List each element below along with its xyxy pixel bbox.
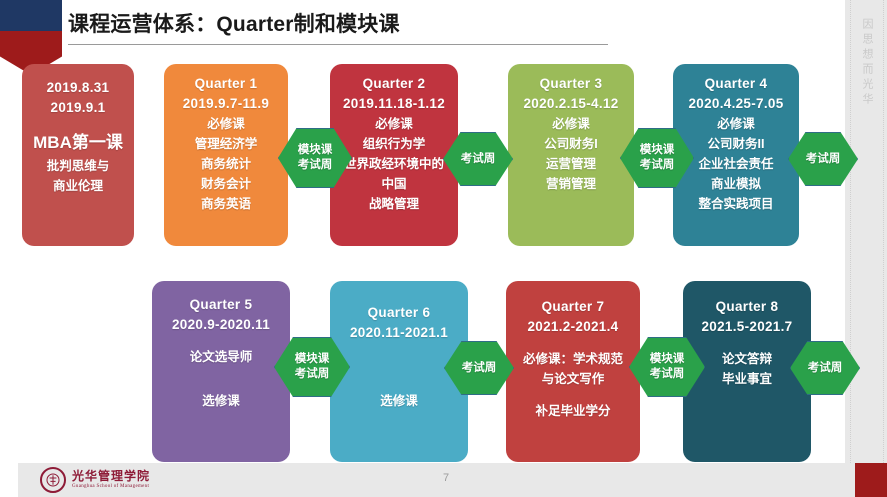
card-quarter-4-line: 企业社会责任 xyxy=(698,154,773,174)
card-quarter-1-line: 商务英语 xyxy=(201,194,251,214)
card-quarter-7: Quarter 72021.2-2021.4必修课：学术规范与论文写作补足毕业学… xyxy=(506,281,640,462)
card-quarter-1-line: 财务会计 xyxy=(201,174,251,194)
card-quarter-8-line: Quarter 8 xyxy=(716,297,779,317)
card-mba-first-lesson-line: 批判思维与 xyxy=(47,156,110,176)
card-quarter-1-line: 管理经济学 xyxy=(195,134,258,154)
card-quarter-6-line: 选修课 xyxy=(380,391,418,411)
hex-module-exam-week-4-label: 模块课 xyxy=(650,352,685,367)
card-mba-first-lesson-line: 商业伦理 xyxy=(53,176,103,196)
card-quarter-2-line: 中国 xyxy=(381,174,406,194)
card-quarter-4-line: 2020.4.25-7.05 xyxy=(688,94,783,114)
corner-navy-block xyxy=(0,0,62,31)
title-underline xyxy=(68,44,608,45)
card-quarter-1-line: 必修课 xyxy=(207,114,245,134)
card-quarter-2-line: 世界政经环境中的 xyxy=(344,154,444,174)
card-mba-first-lesson-line: 2019.9.1 xyxy=(51,98,106,118)
card-quarter-1: Quarter 12019.9.7-11.9必修课管理经济学商务统计财务会计商务… xyxy=(164,64,288,246)
card-quarter-5: Quarter 52020.9-2020.11论文选导师选修课 xyxy=(152,281,290,462)
logo-text: 光华管理学院 Guanghua School of Management xyxy=(72,470,150,490)
page-title: 课程运营体系：Quarter制和模块课 xyxy=(68,10,668,52)
hex-module-exam-week-2-label: 考试周 xyxy=(640,158,675,173)
card-quarter-3-line: 营销管理 xyxy=(546,174,596,194)
card-quarter-3-line: 2020.2.15-4.12 xyxy=(523,94,618,114)
card-quarter-7-line: 必修课：学术规范 xyxy=(523,349,623,369)
card-quarter-2-line: 必修课 xyxy=(375,114,413,134)
card-quarter-1-line: 2019.9.7-11.9 xyxy=(183,94,269,114)
hex-module-exam-week-3-label: 模块课 xyxy=(295,352,330,367)
page-number: 7 xyxy=(443,472,449,484)
hex-exam-week-1-label: 考试周 xyxy=(461,152,496,167)
card-quarter-5-line: 选修课 xyxy=(202,391,240,411)
card-quarter-4-line: 整合实践项目 xyxy=(698,194,773,214)
hex-module-exam-week-3-label: 考试周 xyxy=(295,367,330,382)
card-quarter-7-line: 与论文写作 xyxy=(542,369,605,389)
hex-module-exam-week-2-label: 模块课 xyxy=(640,143,675,158)
card-quarter-6-line: Quarter 6 xyxy=(368,303,431,323)
card-quarter-3: Quarter 32020.2.15-4.12必修课公司财务I运营管理营销管理 xyxy=(508,64,634,246)
card-quarter-3-line: 运营管理 xyxy=(546,154,596,174)
logo-name-en: Guanghua School of Management xyxy=(72,483,150,490)
card-quarter-3-line: 公司财务I xyxy=(544,134,597,154)
card-quarter-5-line: 论文选导师 xyxy=(190,347,253,367)
card-mba-first-lesson-line: 2019.8.31 xyxy=(47,78,110,98)
card-quarter-7-line: 补足毕业学分 xyxy=(535,401,610,421)
card-mba-first-lesson-line: MBA第一课 xyxy=(33,130,123,156)
hex-module-exam-week-1-label: 模块课 xyxy=(298,143,333,158)
card-quarter-2-line: 组织行为学 xyxy=(363,134,426,154)
card-quarter-1-line: Quarter 1 xyxy=(195,74,258,94)
card-quarter-7-line: 2021.2-2021.4 xyxy=(528,317,619,337)
card-quarter-7-line: Quarter 7 xyxy=(542,297,605,317)
logo-name-cn: 光华管理学院 xyxy=(72,470,150,483)
card-quarter-1-line: 商务统计 xyxy=(201,154,251,174)
card-quarter-8: Quarter 82021.5-2021.7论文答辩毕业事宜 xyxy=(683,281,811,462)
footer-red-block xyxy=(855,463,887,497)
slide-canvas: 课程运营体系：Quarter制和模块课 因思想而光华 2019.8.312019… xyxy=(0,0,887,497)
card-quarter-4-line: Quarter 4 xyxy=(705,74,768,94)
logo-seal-icon xyxy=(40,467,66,493)
card-quarter-5-line: 2020.9-2020.11 xyxy=(172,315,270,335)
hex-exam-week-4-label: 考试周 xyxy=(808,361,843,376)
card-quarter-4-line: 必修课 xyxy=(717,114,755,134)
card-quarter-3-line: 必修课 xyxy=(552,114,590,134)
guanghua-logo: 光华管理学院 Guanghua School of Management xyxy=(40,468,150,492)
card-quarter-2-line: Quarter 2 xyxy=(363,74,426,94)
card-quarter-3-line: Quarter 3 xyxy=(540,74,603,94)
card-quarter-6-line: 2020.11-2021.1 xyxy=(350,323,448,343)
hex-module-exam-week-4-label: 考试周 xyxy=(650,367,685,382)
card-quarter-8-line: 毕业事宜 xyxy=(722,369,772,389)
hex-module-exam-week-1-label: 考试周 xyxy=(298,158,333,173)
footer-left-white-gap xyxy=(0,463,18,497)
card-mba-first-lesson: 2019.8.312019.9.1MBA第一课批判思维与商业伦理 xyxy=(22,64,134,246)
card-quarter-8-line: 2021.5-2021.7 xyxy=(702,317,793,337)
hex-exam-week-3-label: 考试周 xyxy=(462,361,497,376)
card-quarter-4-line: 商业模拟 xyxy=(711,174,761,194)
card-quarter-8-line: 论文答辩 xyxy=(722,349,772,369)
hex-exam-week-2-label: 考试周 xyxy=(806,152,841,167)
vertical-motto: 因思想而光华 xyxy=(858,18,876,108)
card-quarter-4-line: 公司财务II xyxy=(708,134,765,154)
card-quarter-2-line: 战略管理 xyxy=(369,194,419,214)
page-title-text: 课程运营体系：Quarter制和模块课 xyxy=(68,10,668,40)
card-quarter-5-line: Quarter 5 xyxy=(190,295,253,315)
card-quarter-2-line: 2019.11.18-1.12 xyxy=(343,94,445,114)
